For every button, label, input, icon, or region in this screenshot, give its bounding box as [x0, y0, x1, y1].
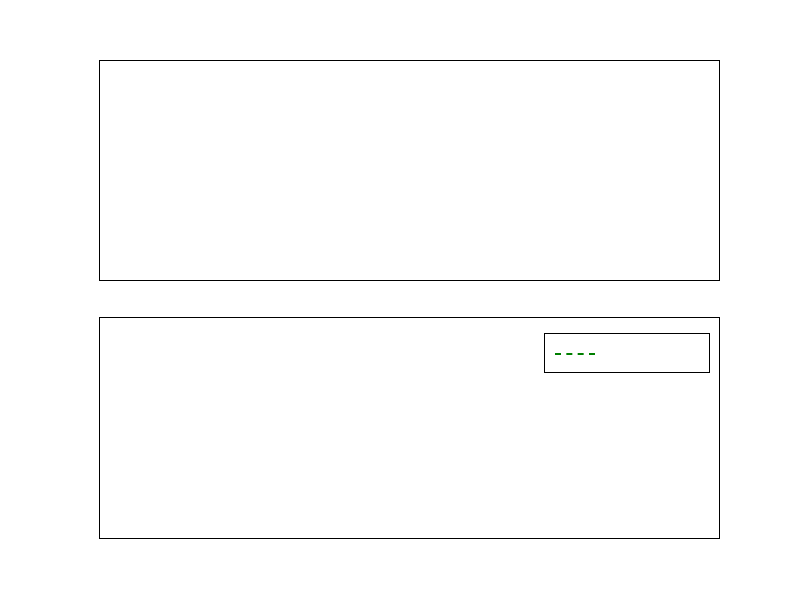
figure-canvas: [0, 0, 800, 600]
bottom-cumulative-axes: [99, 317, 720, 539]
legend-dashed-line-swatch: [555, 346, 595, 360]
top-histogram-axes: [99, 60, 720, 281]
legend[interactable]: [544, 333, 710, 373]
histogram-bars-layer: [100, 61, 719, 280]
